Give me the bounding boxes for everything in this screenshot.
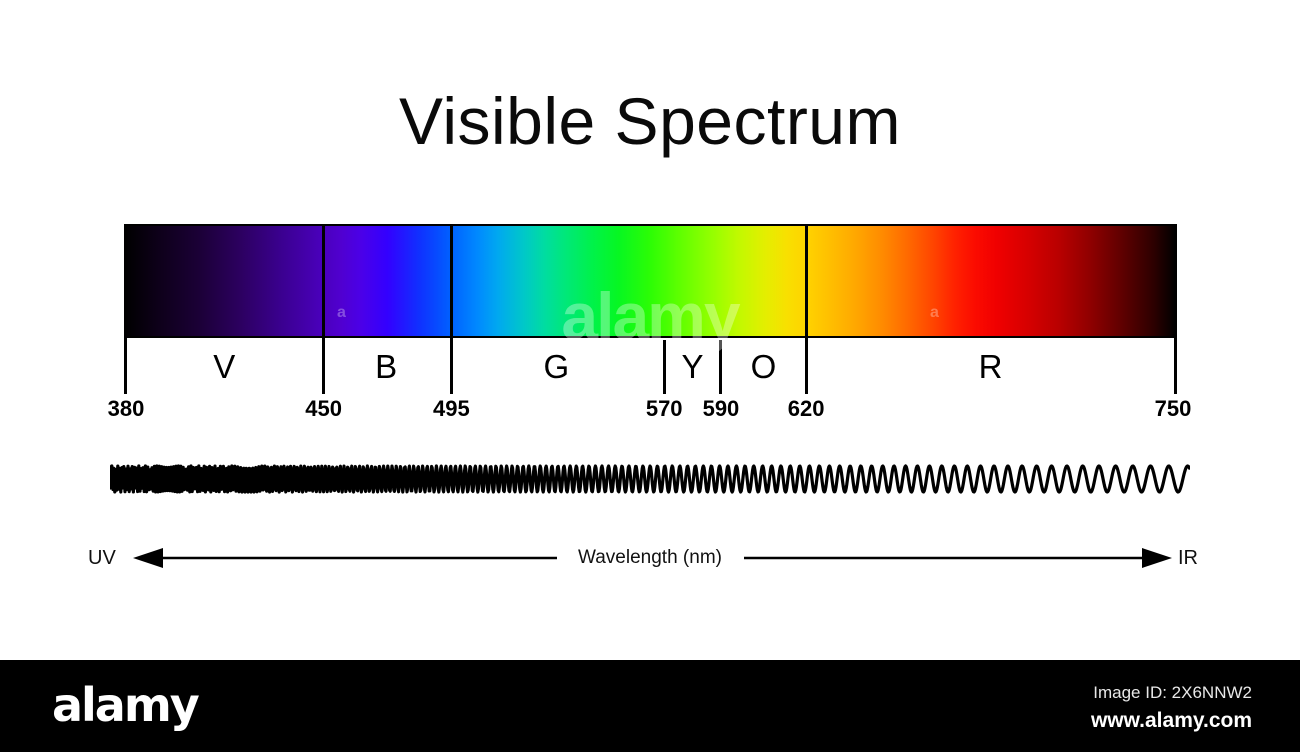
tick-label-495: 495	[433, 396, 470, 422]
band-letter-orange: O	[751, 350, 777, 383]
tick-label-620: 620	[788, 396, 825, 422]
axis-tick-380	[124, 224, 127, 394]
wave-svg	[110, 448, 1190, 510]
band-letter-violet: V	[213, 350, 235, 383]
spectrum-figure: Visible Spectrum 380450495570590620750 V…	[0, 0, 1300, 752]
tick-label-750: 750	[1155, 396, 1192, 422]
axis-tick-620	[805, 224, 808, 394]
axis-tick-590	[719, 340, 722, 394]
band-letter-red: R	[979, 350, 1003, 383]
alamy-logo: alamy	[52, 682, 198, 728]
axis-tick-570	[663, 340, 666, 394]
footer-bar: alamy Image ID: 2X6NNW2 www.alamy.com	[0, 660, 1300, 752]
axis-tick-450	[322, 224, 325, 394]
band-letter-blue: B	[375, 350, 397, 383]
band-letter-green: G	[544, 350, 570, 383]
band-letter-yellow: Y	[682, 350, 704, 383]
spectrum-bar-container	[125, 224, 1175, 338]
axis-tick-750	[1174, 224, 1177, 394]
alamy-url-text: www.alamy.com	[1091, 710, 1252, 731]
page-title: Visible Spectrum	[0, 88, 1300, 154]
tick-label-590: 590	[703, 396, 740, 422]
tick-label-570: 570	[646, 396, 683, 422]
wavelength-wave-illustration	[110, 448, 1190, 510]
tick-label-380: 380	[108, 396, 145, 422]
tick-label-450: 450	[305, 396, 342, 422]
spectrum-gradient-bar	[125, 224, 1175, 338]
image-id-text: Image ID: 2X6NNW2	[1093, 684, 1252, 701]
axis-tick-495	[450, 224, 453, 394]
wavelength-axis-label: Wavelength (nm)	[0, 540, 1300, 576]
wavelength-axis-row: UV IR Wavelength (nm)	[0, 540, 1300, 576]
